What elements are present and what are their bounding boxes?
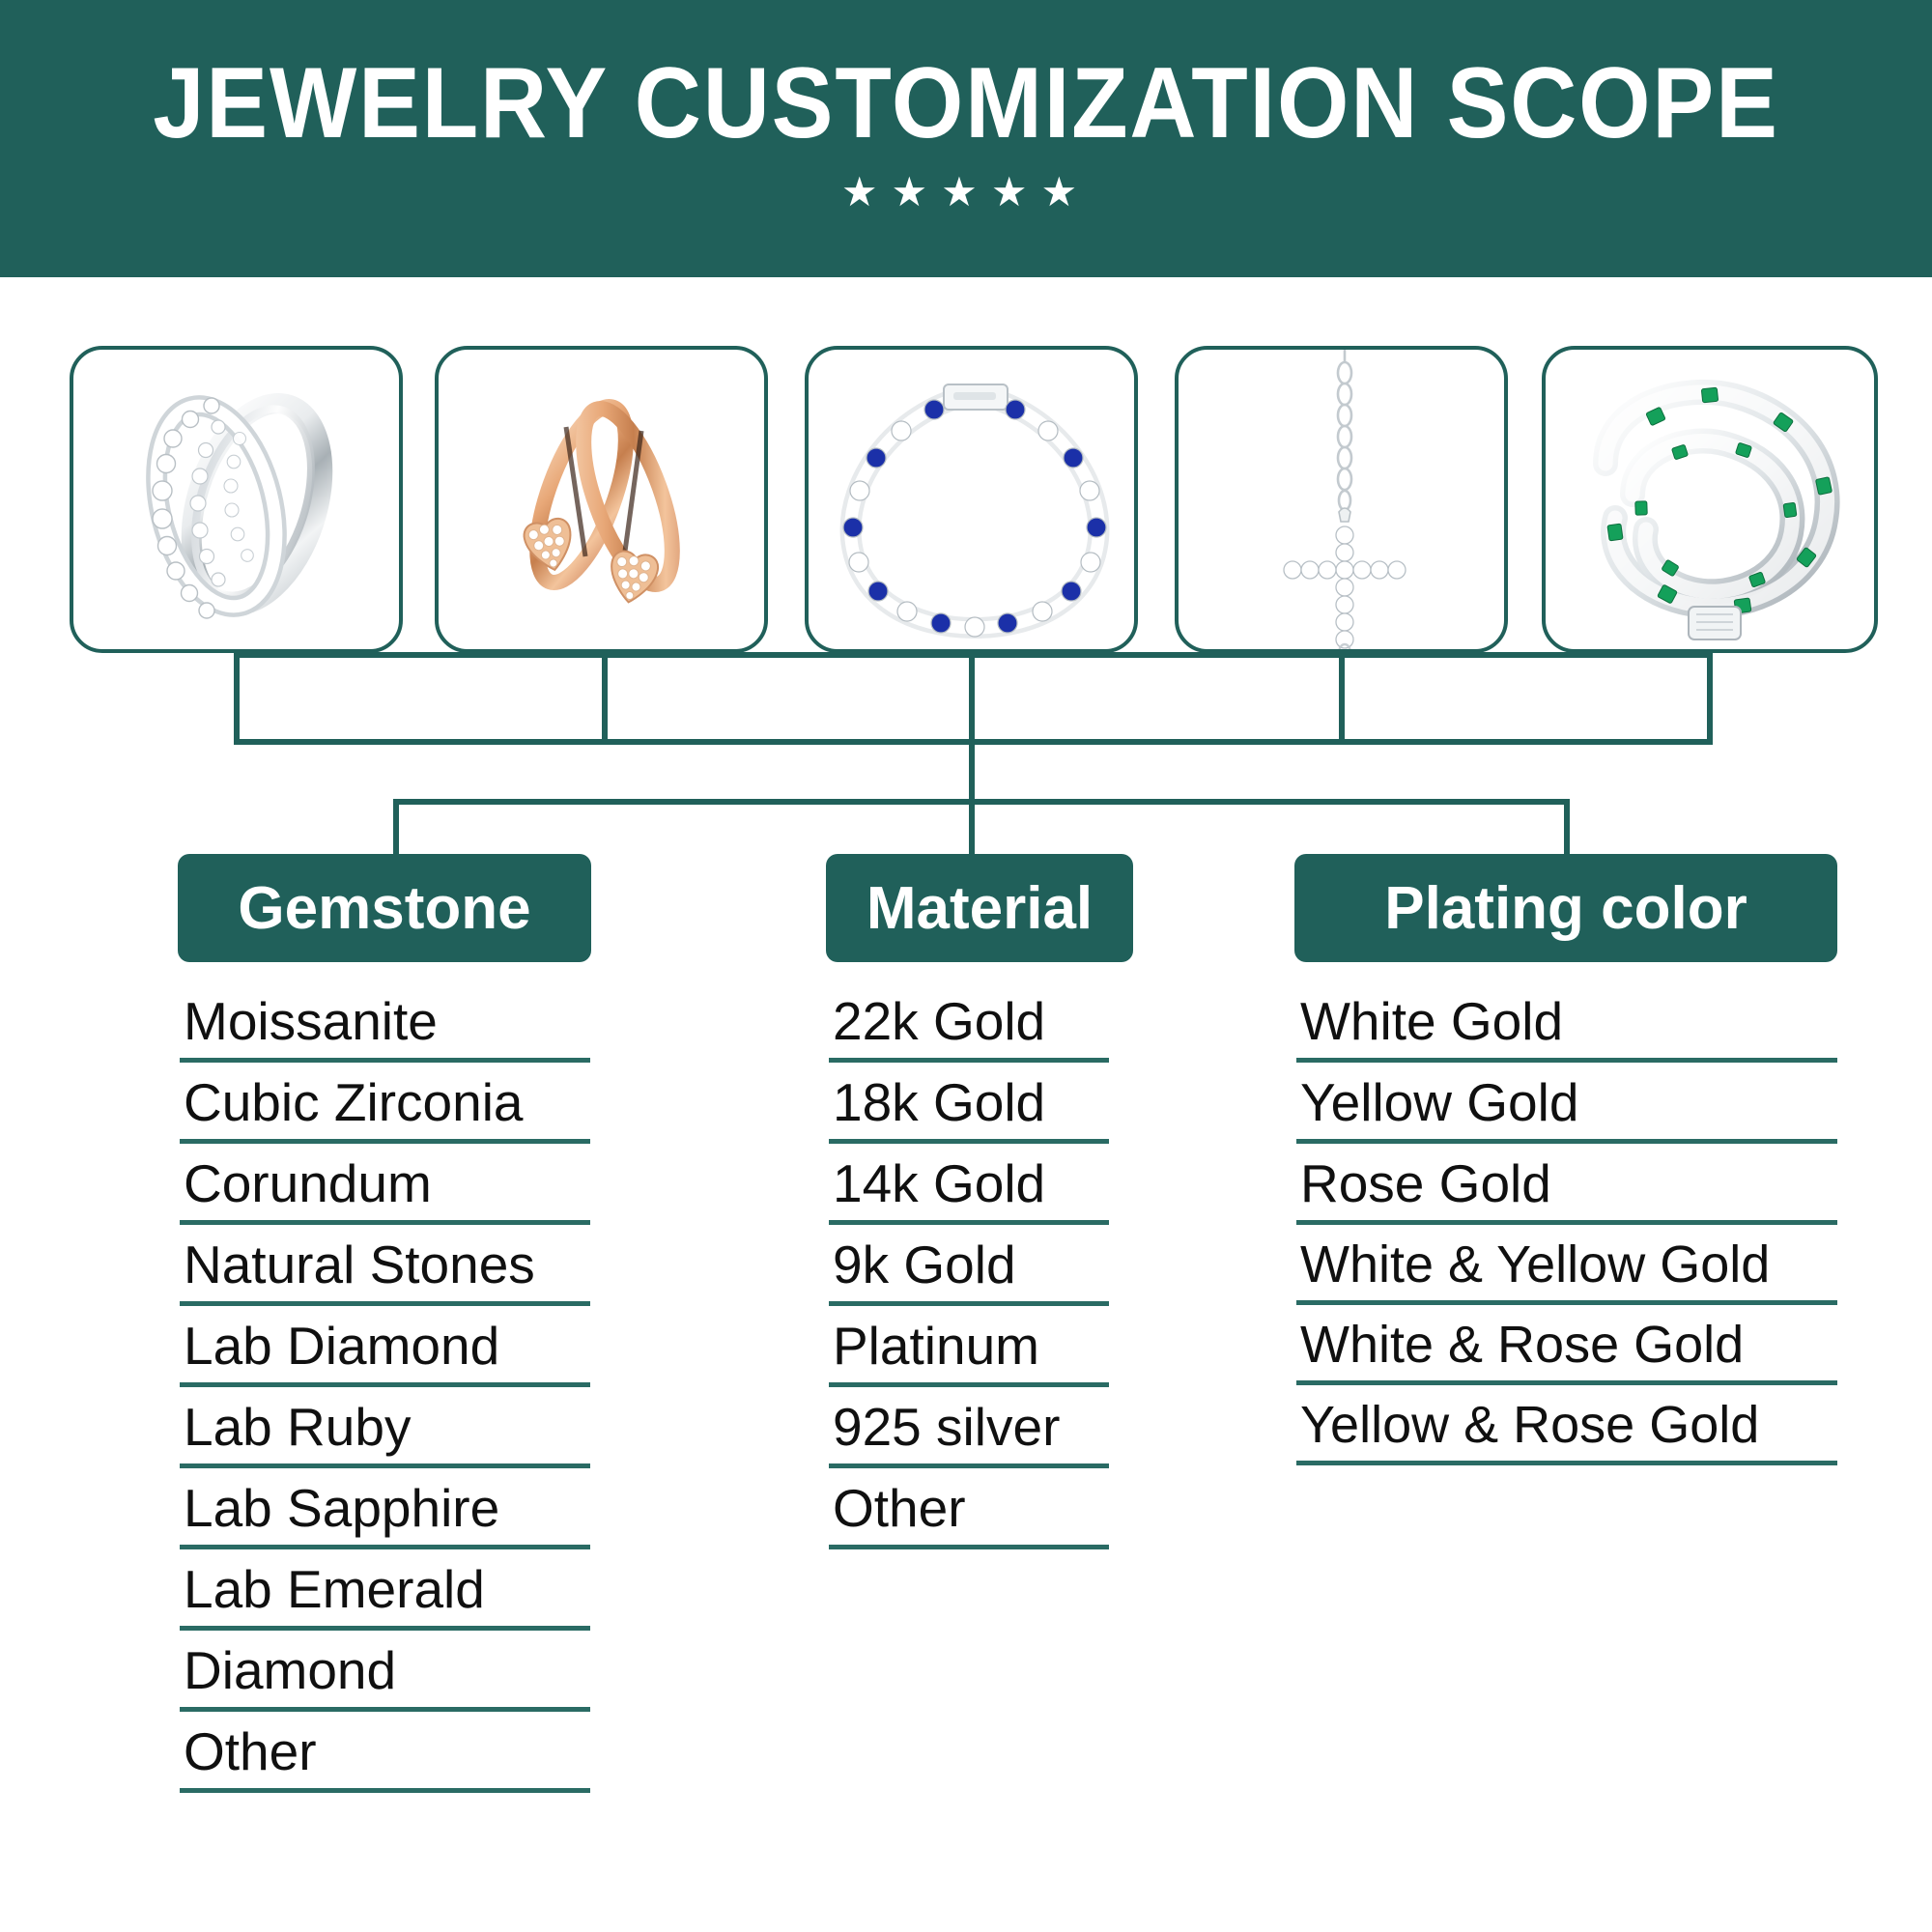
page-title: JEWELRY CUSTOMIZATION SCOPE [77,46,1855,161]
material-option-list: 22k Gold 18k Gold 14k Gold 9k Gold Plati… [829,995,1109,1563]
list-item[interactable]: 22k Gold [829,995,1109,1063]
list-item[interactable]: 925 silver [829,1401,1109,1468]
star-rating-decoration: ★★★★★ [0,172,1932,213]
list-item[interactable]: Diamond [180,1644,590,1712]
category-header-plating-color[interactable]: Plating color [1294,854,1837,962]
list-item[interactable]: 18k Gold [829,1076,1109,1144]
star-icon: ★ [1040,172,1091,213]
plating-color-option-list: White Gold Yellow Gold Rose Gold White &… [1296,995,1837,1479]
product-card-necklace[interactable] [1175,346,1508,653]
list-item[interactable]: Corundum [180,1157,590,1225]
list-item[interactable]: Moissanite [180,995,590,1063]
ring-icon [73,350,399,649]
product-card-chain[interactable] [1542,346,1878,653]
list-item[interactable]: Platinum [829,1320,1109,1387]
list-item[interactable]: Yellow Gold [1296,1076,1837,1144]
list-item[interactable]: Other [829,1482,1109,1549]
star-icon: ★ [841,172,892,213]
product-card-earrings[interactable] [435,346,768,653]
category-label: Material [867,874,1093,943]
star-icon: ★ [892,172,942,213]
product-card-ring[interactable] [70,346,403,653]
list-item[interactable]: White & Rose Gold [1296,1319,1837,1385]
list-item[interactable]: Lab Emerald [180,1563,590,1631]
category-header-gemstone[interactable]: Gemstone [178,854,591,962]
cross-necklace-icon [1179,350,1504,649]
bracelet-icon [809,350,1134,649]
list-item[interactable]: Lab Ruby [180,1401,590,1468]
category-label: Plating color [1384,874,1747,943]
cuban-chain-icon [1546,350,1874,649]
list-item[interactable]: Cubic Zirconia [180,1076,590,1144]
list-item[interactable]: Other [180,1725,590,1793]
list-item[interactable]: Lab Sapphire [180,1482,590,1549]
category-header-material[interactable]: Material [826,854,1133,962]
list-item[interactable]: White & Yellow Gold [1296,1238,1837,1305]
page-header: JEWELRY CUSTOMIZATION SCOPE ★★★★★ [0,0,1932,277]
list-item[interactable]: 14k Gold [829,1157,1109,1225]
gemstone-option-list: Moissanite Cubic Zirconia Corundum Natur… [180,995,590,1806]
earrings-icon [439,350,764,649]
list-item[interactable]: Lab Diamond [180,1320,590,1387]
list-item[interactable]: Natural Stones [180,1238,590,1306]
list-item[interactable]: Yellow & Rose Gold [1296,1399,1837,1465]
star-icon: ★ [991,172,1041,213]
list-item[interactable]: 9k Gold [829,1238,1109,1306]
category-label: Gemstone [238,874,530,943]
list-item[interactable]: White Gold [1296,995,1837,1063]
list-item[interactable]: Rose Gold [1296,1157,1837,1225]
connector-tree [0,638,1932,869]
star-icon: ★ [941,172,991,213]
product-card-bracelet[interactable] [805,346,1138,653]
